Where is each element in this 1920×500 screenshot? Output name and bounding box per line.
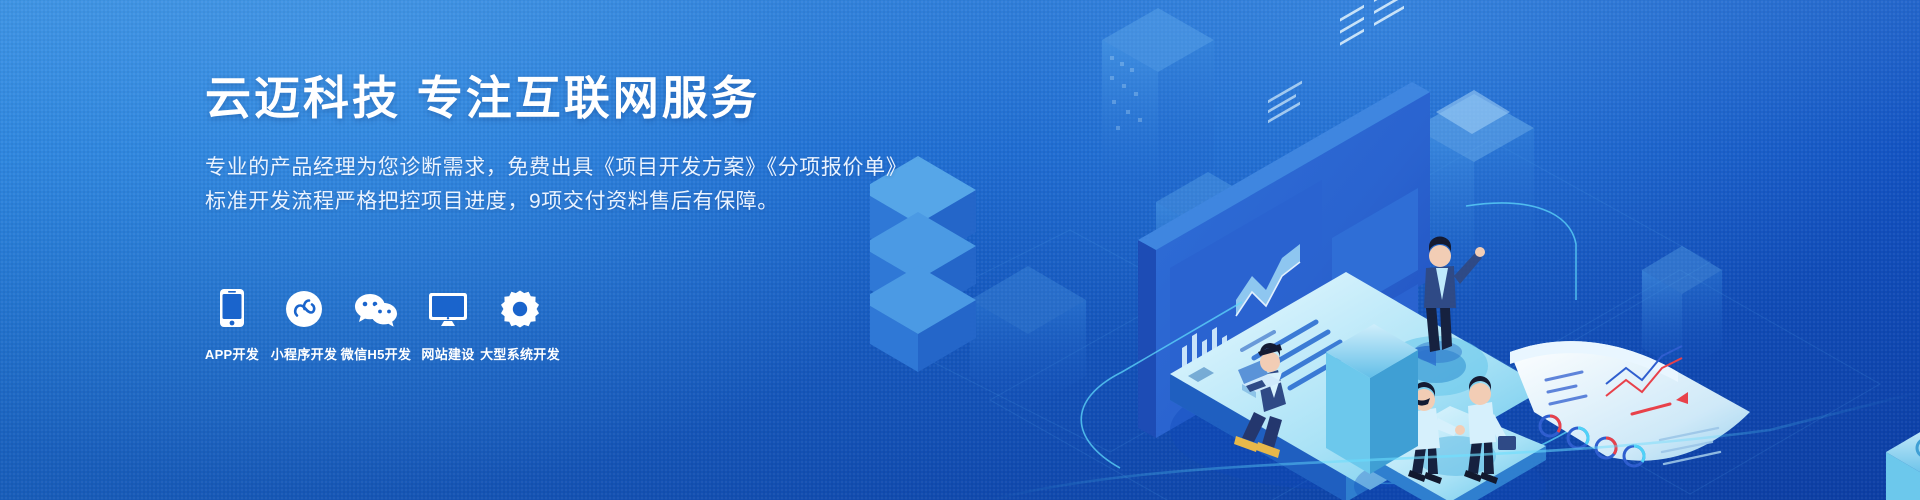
service-label: APP开发 [205,344,259,363]
service-icon-row: APP开发 小程序开发 [196,286,556,363]
service-item-app[interactable]: APP开发 [196,286,268,363]
service-label: 大型系统开发 [480,344,560,363]
mini-program-icon [285,286,323,328]
service-item-wechat-h5[interactable]: 微信H5开发 [340,286,412,363]
isometric-illustration [870,0,1920,500]
service-item-website[interactable]: 网站建设 [412,286,484,363]
monitor-icon [428,286,468,328]
subtitle-line-1: 专业的产品经理为您诊断需求，免费出具《项目开发方案》《分项报价单》 [205,151,905,185]
wechat-icon [354,286,398,328]
service-label: 小程序开发 [271,344,338,363]
gear-icon [501,286,539,328]
service-label: 网站建设 [421,344,474,363]
hero-banner: 云迈科技 专注互联网服务 专业的产品经理为您诊断需求，免费出具《项目开发方案》《… [0,0,1920,500]
hero-subtitle: 专业的产品经理为您诊断需求，免费出具《项目开发方案》《分项报价单》 标准开发流程… [205,151,905,219]
service-item-large-system[interactable]: 大型系统开发 [484,286,556,363]
service-label: 微信H5开发 [341,344,411,363]
service-item-miniprogram[interactable]: 小程序开发 [268,286,340,363]
mobile-phone-icon [219,286,245,328]
subtitle-line-2: 标准开发流程严格把控项目进度，9项交付资料售后有保障。 [205,185,905,219]
page-title: 云迈科技 专注互联网服务 [205,72,905,125]
hero-copy: 云迈科技 专注互联网服务 专业的产品经理为您诊断需求，免费出具《项目开发方案》《… [205,72,905,219]
